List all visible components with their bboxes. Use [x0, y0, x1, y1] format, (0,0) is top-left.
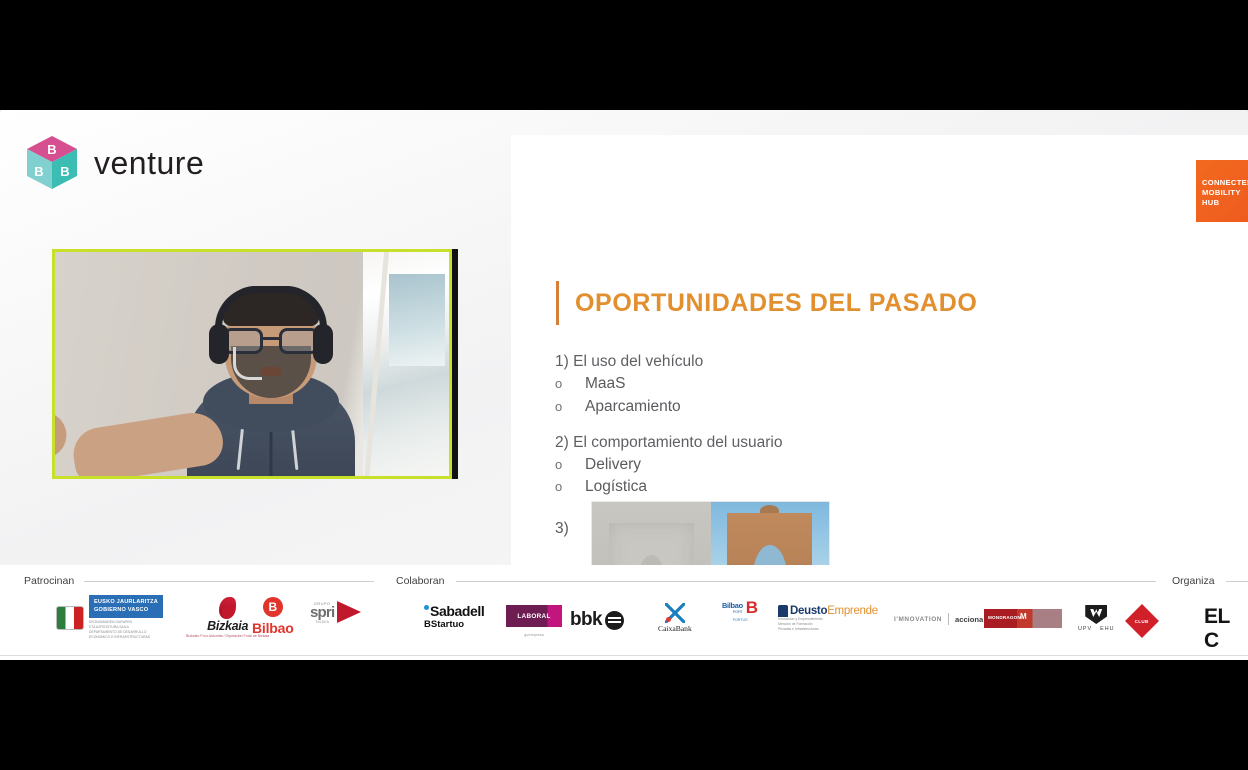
slide-group-1-item-2-label: Aparcamiento: [585, 398, 681, 416]
headset-microphone: [233, 347, 262, 380]
slide-group-1-title: El uso del vehículo: [573, 353, 703, 370]
laboral-kutxa-logo[interactable]: LABORAL gurrenpresa: [506, 605, 562, 637]
bullet-circle-icon: o: [555, 376, 585, 391]
svg-text:B: B: [34, 164, 43, 179]
grupo-spri-logo[interactable]: GRUPO spri TALDEA: [310, 601, 361, 624]
svg-text:B: B: [60, 164, 69, 179]
slide-group-2: 2) El comportamiento del usuario o Deliv…: [555, 434, 975, 497]
speaker-figure: [181, 286, 361, 476]
india-gate-hazy-photo: [592, 502, 711, 568]
badge-line-1: CONNECTED: [1202, 178, 1248, 188]
laboral-label: LABORAL: [517, 613, 550, 620]
el-correo-label: EL C: [1204, 605, 1248, 653]
slide-group-1-item-1: o MaaS: [555, 375, 975, 393]
clear-arch: [727, 513, 812, 568]
acciona-label: acciona: [955, 615, 983, 624]
slide-group-2-item-2: o Logística: [555, 478, 975, 496]
bilbao-port-lower-label: PORTUS: [733, 618, 748, 622]
laboral-subtitle: gurrenpresa: [524, 633, 543, 637]
bizkaia-flame-icon: [219, 597, 236, 619]
emprende-label: Emprende: [827, 605, 878, 617]
slide-group-2-item-1: o Delivery: [555, 456, 975, 474]
window-pane: [389, 274, 445, 366]
slide-photo-pair: [591, 501, 830, 568]
video-window: [363, 252, 449, 476]
red-diamond-icon: CLUB: [1125, 604, 1159, 638]
red-diamond-label: CLUB: [1135, 619, 1149, 624]
slide-group-1-item-1-label: MaaS: [585, 375, 626, 393]
sponsor-bar: Patrocinan Colaboran Organiza EUSKO JAUR…: [0, 565, 1248, 660]
headset-cup-right: [313, 324, 333, 364]
slide-group-2-item-1-label: Delivery: [585, 456, 641, 474]
imnovation-acciona-logo[interactable]: I'MNOVATION acciona: [894, 613, 983, 625]
slide-group-1-heading: 1) El uso del vehículo: [555, 353, 975, 371]
sponsor-rule-colaboran: [456, 581, 1156, 582]
upv-ehu-logo[interactable]: UPV EHU: [1078, 605, 1114, 632]
bilbao-logo[interactable]: B Bilbao: [252, 597, 294, 636]
slide-title-row: OPORTUNIDADES DEL PASADO: [556, 281, 977, 325]
deusto-emprende-logo[interactable]: Deusto Emprende Innovación y Emprendimie…: [778, 605, 878, 632]
bullet-circle-icon: o: [555, 399, 585, 414]
gobierno-vasco-line1: EUSKO JAURLARITZA: [94, 598, 158, 606]
slide-group-2-item-2-label: Logística: [585, 478, 647, 496]
sponsor-rule-organiza: [1226, 581, 1248, 582]
speaker-mouth: [260, 367, 282, 376]
slide-group-3-number: 3): [555, 520, 569, 538]
upv-ehu-shield-icon: [1085, 605, 1107, 624]
gv-sub4: ECONOMICO E INFRAESTRUCTURAS: [89, 635, 163, 640]
gobierno-vasco-line2: GOBIERNO VASCO: [94, 606, 158, 614]
bilbao-port-b-icon: B: [746, 601, 758, 615]
headset-band: [215, 286, 327, 328]
sponsor-section-label-colaboran: Colaboran: [396, 575, 444, 587]
deusto-shield-icon: [778, 605, 788, 617]
deusto-label: Deusto: [790, 605, 827, 617]
logo-divider: [948, 613, 949, 625]
spri-arrow-icon: [337, 601, 361, 623]
imnovation-label: I'MNOVATION: [894, 616, 942, 623]
sponsor-bottom-divider: [0, 655, 1248, 656]
slide-group-2-heading: 2) El comportamiento del usuario: [555, 434, 975, 452]
slide-body: 1) El uso del vehículo o MaaS o Aparcami…: [555, 353, 975, 515]
deusto-subtitle: Innovación y Emprendimiento Mención de F…: [778, 617, 823, 632]
mondragon-label: MONDRAGON: [988, 615, 1021, 620]
sponsor-section-label-patrocinan: Patrocinan: [24, 575, 74, 587]
bilbao-port-sub-label: PORT: [722, 610, 743, 614]
slide-group-2-title: El comportamiento del usuario: [573, 434, 782, 451]
speaker-video-tile[interactable]: [52, 249, 458, 385]
bilbao-port-top-label: Bilbao: [722, 601, 743, 610]
bbk-label: bbk: [570, 609, 602, 631]
mondragon-logo[interactable]: MONDRAGON M: [984, 609, 1062, 628]
slide-group-1: 1) El uso del vehículo o MaaS o Aparcami…: [555, 353, 975, 416]
mondragon-bar: MONDRAGON M: [984, 609, 1062, 628]
sabadell-label: Sabadell: [430, 603, 484, 619]
eusko-jaurlaritza-gobierno-vasco-logo[interactable]: EUSKO JAURLARITZA GOBIERNO VASCO EKONOMI…: [56, 595, 163, 640]
basque-coat-of-arms-icon: [56, 606, 84, 630]
slide-group-1-item-2: o Aparcamiento: [555, 398, 975, 416]
bilbao-port-logo[interactable]: Bilbao PORT B PORTUS: [722, 601, 758, 622]
bilbao-b-icon: B: [263, 597, 283, 617]
presentation-slide[interactable]: OPORTUNIDADES DEL PASADO 1) El uso del v…: [511, 135, 1248, 568]
sabadell-dot-icon: [424, 605, 429, 610]
slide-group-2-number: 2): [555, 434, 569, 451]
caixabank-logo[interactable]: CaixaBank: [658, 603, 692, 633]
laboral-kutxa-box: LABORAL: [506, 605, 562, 627]
slide-title: OPORTUNIDADES DEL PASADO: [575, 289, 977, 318]
deusto-sub3: Privadas e Infraestructuras: [778, 627, 823, 632]
video-frame[interactable]: [52, 249, 452, 479]
bbb-cube-icon: B B B: [24, 134, 80, 192]
mondragon-m-icon: M: [1020, 612, 1027, 621]
hazy-arch: [609, 523, 694, 568]
broadcast-stage: B B B venture: [0, 0, 1248, 770]
caixabank-label: CaixaBank: [658, 624, 692, 633]
badge-line-3: HUB: [1202, 198, 1248, 208]
bbk-logo[interactable]: bbk: [570, 609, 624, 631]
spri-label: spri: [310, 606, 334, 620]
letterbox-bottom: [0, 660, 1248, 770]
red-diamond-logo[interactable]: CLUB: [1130, 609, 1154, 633]
sponsor-section-label-organiza: Organiza: [1172, 575, 1215, 587]
bstartuo-label: BStartuo: [424, 619, 484, 630]
broadcast-content: B B B venture: [0, 110, 1248, 660]
bilbao-label: Bilbao: [252, 620, 294, 636]
headset-cup-left: [209, 324, 229, 364]
connected-mobility-hub-badge: CONNECTED MOBILITY HUB: [1196, 160, 1248, 222]
sabadell-bstartuo-logo[interactable]: Sabadell BStartuo: [424, 603, 484, 630]
svg-text:B: B: [47, 142, 56, 157]
slide-group-1-number: 1): [555, 353, 569, 370]
bbb-venture-wordmark: venture: [94, 145, 204, 182]
caixabank-star-icon: [665, 603, 685, 623]
badge-line-2: MOBILITY: [1202, 188, 1248, 198]
el-correo-logo[interactable]: EL C: [1204, 605, 1248, 653]
ehu-label: EHU: [1100, 626, 1114, 632]
video-edge-shadow: [452, 249, 458, 479]
gobierno-vasco-subtitle: EKONOMIAREN GARAPEN ETA AZPIEGITURA SAIL…: [89, 620, 163, 640]
title-accent-bar: [556, 281, 559, 325]
sponsor-rule-patrocinan: [84, 581, 374, 582]
bbb-venture-logo: B B B venture: [24, 134, 204, 192]
glasses-bridge: [263, 337, 279, 340]
upv-label: UPV: [1078, 626, 1092, 632]
bbk-mark-icon: [605, 611, 624, 630]
india-gate-clear-photo: [711, 502, 830, 568]
bullet-circle-icon: o: [555, 479, 585, 494]
bullet-circle-icon: o: [555, 457, 585, 472]
bizkaia-label: Bizkaia: [207, 619, 248, 633]
gobierno-vasco-band: EUSKO JAURLARITZA GOBIERNO VASCO: [89, 595, 163, 618]
letterbox-top: [0, 0, 1248, 110]
